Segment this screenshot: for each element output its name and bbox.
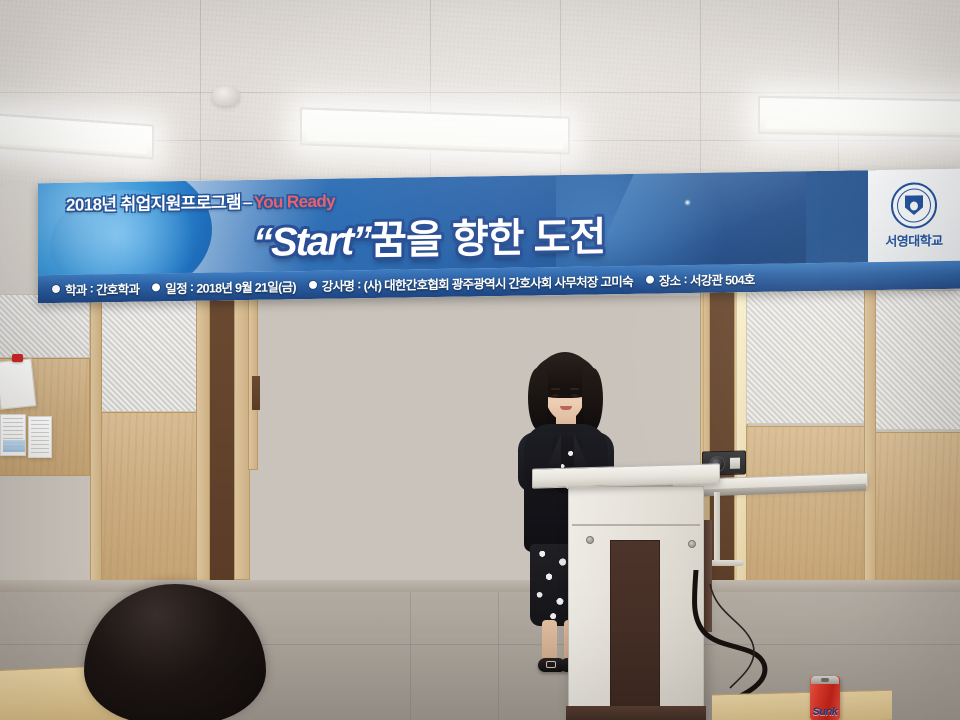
red-clip-icon (12, 354, 23, 362)
floor-tile-seam (498, 592, 499, 720)
frosted-glass-panel (0, 294, 90, 358)
lecture-room-photo: Sunk 2018년 취업지원프로그램–You Ready “Start”꿈을 … (0, 0, 960, 720)
frosted-glass-panel (100, 292, 198, 412)
light-tube (0, 117, 147, 154)
smoke-detector-icon (212, 86, 240, 106)
wall-dark-strip (252, 376, 260, 410)
podium-base (566, 706, 706, 720)
light-tube (307, 113, 563, 150)
side-desk-leg (714, 492, 720, 564)
banner-sparkle (684, 199, 691, 206)
info-sep: : (357, 277, 360, 291)
door-jamb-dark (210, 290, 236, 580)
university-seal-icon (891, 182, 937, 229)
info-value: 간호학과 (96, 278, 139, 298)
wall-wood-frame (196, 290, 210, 586)
can-pull-tab (821, 678, 829, 682)
banner-main-panel: 2018년 취업지원프로그램–You Ready “Start”꿈을 향한 도전 (38, 170, 876, 275)
banner-title-prefix: 2018년 취업지원프로그램 (66, 193, 241, 215)
podium-screw-right (688, 540, 696, 548)
seal-shield-icon (905, 195, 923, 215)
ceiling-seam (200, 0, 201, 186)
frosted-glass-panel (872, 290, 960, 430)
notice-sheet-right (28, 416, 52, 458)
info-value: (사) 대한간호협회 광주광역시 간호사회 사무처장 고미숙 (364, 270, 633, 293)
camera-flash-icon (730, 458, 740, 469)
wall-wood-panel (872, 432, 960, 592)
info-sep: : (90, 281, 93, 295)
bullet-icon (309, 281, 317, 289)
can-brand-label: Sunk (810, 706, 840, 718)
wall-wood-panel (100, 412, 198, 584)
bullet-icon (152, 283, 160, 291)
wall-wood-frame (90, 290, 102, 586)
light-tube (765, 101, 960, 133)
presenter-eyebrow-right (570, 388, 579, 390)
bullet-icon (646, 276, 654, 284)
banner-title-dash: – (241, 193, 254, 212)
info-label: 강사명 (322, 275, 354, 295)
paper-text-lines (31, 420, 49, 454)
banner-info-item-1: 일정:2018년 9월 21일(금) (152, 276, 296, 297)
ceiling-seam (430, 0, 431, 186)
ceiling-seam (700, 0, 701, 186)
info-value: 2018년 9월 21일(금) (196, 276, 295, 297)
banner-info-item-0: 학과:간호학과 (52, 278, 139, 298)
soda-can: Sunk (810, 676, 840, 720)
presenter-hair-left (528, 368, 548, 430)
presenter-eye-left (552, 394, 559, 397)
ceiling-seam (838, 0, 839, 186)
info-value: 서강관 504호 (690, 268, 755, 288)
notice-sheet-left (0, 414, 26, 456)
ceiling-seam (560, 0, 561, 186)
wall-wood-panel (746, 426, 868, 592)
bullet-icon (52, 285, 60, 293)
info-label: 일정 (165, 277, 187, 296)
podium-seam (572, 524, 700, 526)
ceiling-seam (0, 92, 960, 93)
ceiling-light-3 (758, 96, 960, 138)
notice-box-white (0, 358, 36, 410)
presenter-eyebrow-left (551, 388, 560, 390)
event-banner: 2018년 취업지원프로그램–You Ready “Start”꿈을 향한 도전… (38, 169, 960, 303)
info-label: 장소 (659, 270, 681, 289)
banner-slogan-quoted: “Start” (253, 219, 370, 265)
university-name-ko: 서영대학교 (885, 230, 942, 250)
university-logo-block: 서영대학교 (868, 169, 960, 262)
podium-screw-left (586, 536, 594, 544)
wall-wood-frame (864, 290, 876, 592)
banner-title-line-2: “Start”꿈을 향한 도전 (253, 204, 605, 268)
info-sep: : (190, 280, 193, 294)
podium-power-cable (690, 570, 870, 710)
ceiling (0, 0, 960, 186)
banner-info-item-2: 강사명:(사) 대한간호협회 광주광역시 간호사회 사무처장 고미숙 (309, 270, 633, 294)
info-sep: : (683, 272, 686, 286)
floor-tile-seam (410, 592, 411, 720)
paper-blue-block (3, 440, 25, 452)
frosted-glass-panel (746, 290, 868, 424)
info-label: 학과 (65, 279, 87, 298)
front-table-right (712, 690, 892, 720)
banner-slogan-rest: 꿈을 향한 도전 (370, 215, 605, 263)
presenter-hair-right (582, 368, 603, 432)
presenter-eye-right (571, 394, 578, 397)
podium-front-panel (610, 540, 660, 710)
wall-light-stripe (737, 290, 746, 590)
banner-info-item-3: 장소:서강관 504호 (646, 268, 755, 289)
